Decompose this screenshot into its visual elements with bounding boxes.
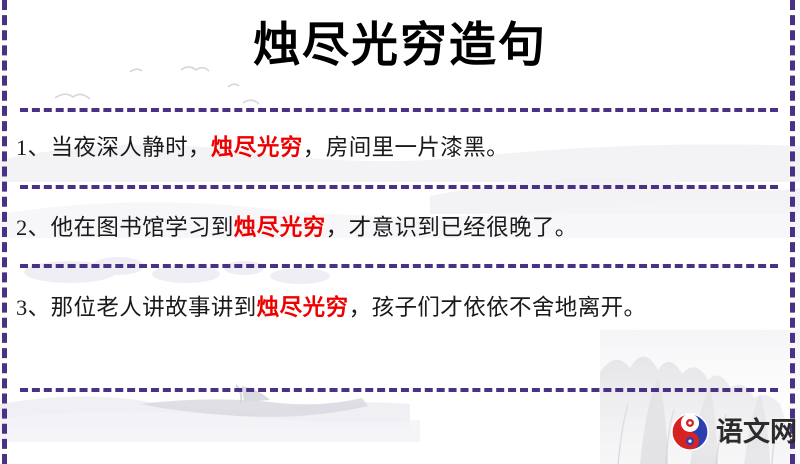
sentence-number-2: 2、 <box>16 215 51 240</box>
sentence-text-before-1: 当夜深人静时， <box>51 135 211 160</box>
yuwen-logo-icon <box>670 412 710 452</box>
example-sentence-1: 1、当夜深人静时，烛尽光穷，房间里一片漆黑。 <box>16 128 768 168</box>
highlighted-idiom-1: 烛尽光穷 <box>211 135 303 160</box>
highlighted-idiom-3: 烛尽光穷 <box>257 295 349 320</box>
site-watermark: 语文网 <box>670 412 797 452</box>
watermark-label: 语文网 <box>716 419 797 446</box>
page-title: 烛尽光穷造句 <box>0 18 800 74</box>
sentence-text-after-1: ，房间里一片漆黑。 <box>303 135 509 160</box>
divider-after-sentence-1 <box>20 185 778 189</box>
divider-below-title <box>20 108 778 112</box>
highlighted-idiom-2: 烛尽光穷 <box>234 215 326 240</box>
sentence-text-before-2: 他在图书馆学习到 <box>51 215 234 240</box>
sentence-number-3: 3、 <box>16 295 51 320</box>
example-sentence-3: 3、那位老人讲故事讲到烛尽光穷，孩子们才依依不舍地离开。 <box>16 288 768 328</box>
sentence-text-after-2: ，才意识到已经很晚了。 <box>326 215 578 240</box>
divider-after-sentence-3 <box>20 388 778 392</box>
sentence-example-card: 烛尽光穷造句 1、当夜深人静时，烛尽光穷，房间里一片漆黑。 2、他在图书馆学习到… <box>0 0 800 464</box>
example-sentence-2: 2、他在图书馆学习到烛尽光穷，才意识到已经很晚了。 <box>16 208 768 248</box>
sentence-number-1: 1、 <box>16 135 51 160</box>
sentence-text-before-3: 那位老人讲故事讲到 <box>51 295 257 320</box>
sentence-text-after-3: ，孩子们才依依不舍地离开。 <box>349 295 647 320</box>
divider-after-sentence-2 <box>20 264 778 268</box>
